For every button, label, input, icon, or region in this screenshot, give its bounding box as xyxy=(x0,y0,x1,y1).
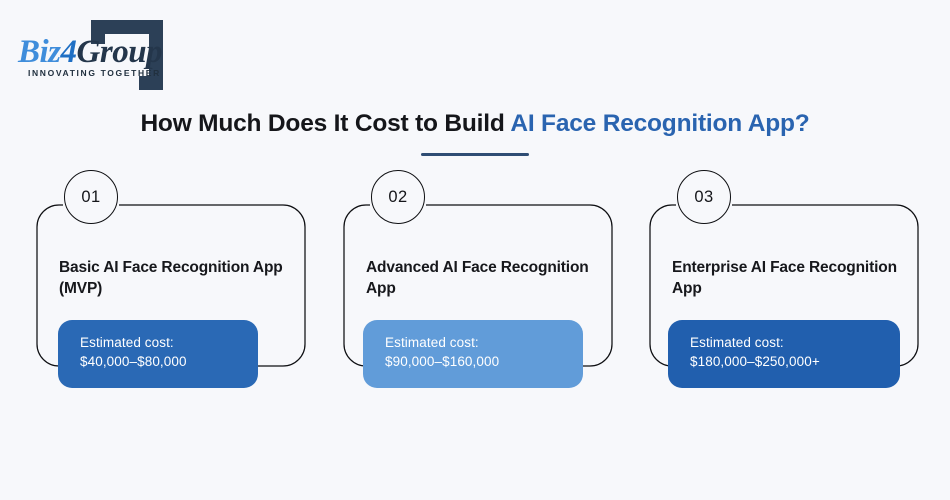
title-underline-divider xyxy=(421,153,529,156)
estimated-cost-value: $180,000–$250,000+ xyxy=(690,352,880,371)
logo-biz-text: Biz xyxy=(18,34,61,70)
cost-tier-card[interactable]: 02 Advanced AI Face Recognition App Esti… xyxy=(344,196,612,366)
estimated-cost-pill: Estimated cost: $180,000–$250,000+ xyxy=(668,320,900,388)
card-title: Advanced AI Face Recognition App xyxy=(366,258,596,299)
estimated-cost-pill: Estimated cost: $90,000–$160,000 xyxy=(363,320,583,388)
estimated-cost-value: $40,000–$80,000 xyxy=(80,352,238,371)
estimated-cost-label: Estimated cost: xyxy=(80,333,238,352)
card-number-badge: 01 xyxy=(64,170,118,224)
card-title: Basic AI Face Recognition App (MVP) xyxy=(59,258,289,299)
cost-tier-card[interactable]: 03 Enterprise AI Face Recognition App Es… xyxy=(650,196,918,366)
cost-tier-card[interactable]: 01 Basic AI Face Recognition App (MVP) E… xyxy=(37,196,305,366)
logo-tagline: INNOVATING TOGETHER xyxy=(28,68,161,78)
logo-four-text: 4 xyxy=(61,34,77,70)
cost-tier-card-row: 01 Basic AI Face Recognition App (MVP) E… xyxy=(0,196,950,406)
logo-group-text: Group xyxy=(77,34,163,70)
estimated-cost-label: Estimated cost: xyxy=(385,333,563,352)
card-number-badge: 03 xyxy=(677,170,731,224)
page-title-lead: How Much Does It Cost to Build xyxy=(140,110,510,137)
estimated-cost-label: Estimated cost: xyxy=(690,333,880,352)
card-title: Enterprise AI Face Recognition App xyxy=(672,258,902,299)
brand-logo: Biz4Group INNOVATING TOGETHER xyxy=(18,18,218,90)
estimated-cost-value: $90,000–$160,000 xyxy=(385,352,563,371)
estimated-cost-pill: Estimated cost: $40,000–$80,000 xyxy=(58,320,258,388)
page-title: How Much Does It Cost to Build AI Face R… xyxy=(0,110,950,138)
logo-wordmark: Biz4Group xyxy=(18,36,162,69)
page-title-accent: AI Face Recognition App? xyxy=(510,110,809,137)
card-number-badge: 02 xyxy=(371,170,425,224)
